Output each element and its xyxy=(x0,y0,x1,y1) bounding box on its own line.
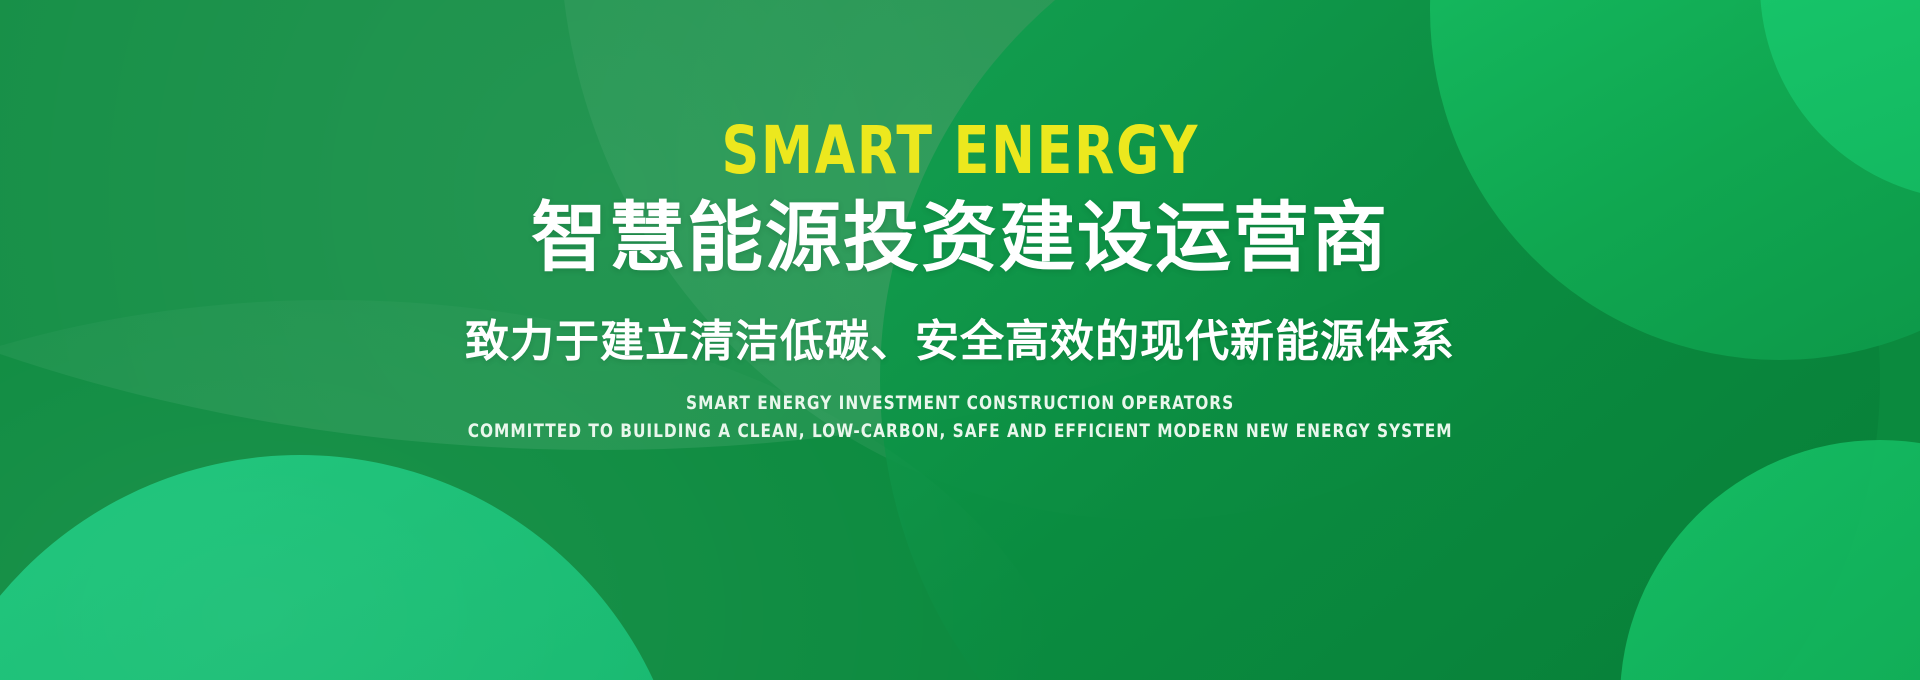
tagline-block: SMART ENERGY INVESTMENT CONSTRUCTION OPE… xyxy=(468,390,1453,445)
tagline-line-2: COMMITTED TO BUILDING A CLEAN, LOW-CARBO… xyxy=(468,418,1453,446)
tagline-line-1: SMART ENERGY INVESTMENT CONSTRUCTION OPE… xyxy=(468,390,1453,418)
subtitle-chinese: 致力于建立清洁低碳、安全高效的现代新能源体系 xyxy=(465,318,1455,366)
headline-chinese: 智慧能源投资建设运营商 xyxy=(531,198,1389,280)
headline-english: SMART ENERGY xyxy=(721,118,1198,184)
hero-banner: SMART ENERGY 智慧能源投资建设运营商 致力于建立清洁低碳、安全高效的… xyxy=(0,0,1920,680)
banner-content: SMART ENERGY 智慧能源投资建设运营商 致力于建立清洁低碳、安全高效的… xyxy=(0,0,1920,680)
